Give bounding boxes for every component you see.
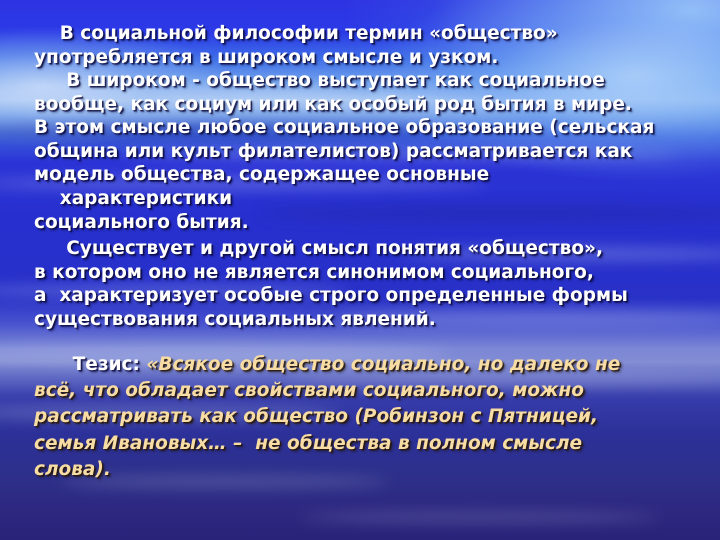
text-line: Существует и другой смысл понятия «общес… bbox=[34, 237, 710, 261]
text-line: модель общества, содержащее основные bbox=[34, 163, 710, 187]
text-line: «Всякое общество социально, но далеко не bbox=[140, 354, 620, 375]
text-line: семья Ивановых… – не общества в полном с… bbox=[34, 431, 710, 457]
paragraph-definition-intro: В социальной философии термин «общество»… bbox=[34, 22, 710, 69]
text-line: существования социальных явлений. bbox=[34, 308, 710, 332]
paragraph-broad-sense: В широком - общество выступает как социа… bbox=[34, 69, 710, 234]
text-line: в котором оно не является синонимом соци… bbox=[34, 261, 710, 285]
text-line: употребляется в широком смысле и узком. bbox=[34, 46, 710, 70]
text-line: всё, что обладает свойствами социального… bbox=[34, 378, 710, 404]
text-line: вообще, как социум или как особый род бы… bbox=[34, 93, 710, 117]
thesis-label: Тезис: bbox=[73, 354, 140, 375]
text-line: В социальной философии термин «общество» bbox=[34, 22, 710, 46]
slide-canvas: В социальной философии термин «общество»… bbox=[0, 0, 720, 540]
paragraph-narrow-sense: Существует и другой смысл понятия «общес… bbox=[34, 237, 710, 331]
text-line: а характеризует особые строго определенн… bbox=[34, 284, 710, 308]
paragraph-thesis: Тезис: «Всякое общество социально, но да… bbox=[34, 352, 710, 483]
text-line: рассматривать как общество (Робинзон с П… bbox=[34, 404, 710, 430]
thesis-indent bbox=[34, 354, 73, 375]
text-line: В широком - общество выступает как социа… bbox=[34, 69, 710, 93]
text-line: характеристики bbox=[34, 187, 710, 211]
text-line: социального бытия. bbox=[34, 211, 710, 235]
text-line: В этом смысле любое социальное образован… bbox=[34, 116, 710, 140]
thesis-first-line: Тезис: «Всякое общество социально, но да… bbox=[34, 352, 710, 378]
text-line: слова). bbox=[34, 457, 710, 483]
slide-text-content: В социальной философии термин «общество»… bbox=[0, 0, 720, 540]
text-line: община или культ филателистов) рассматри… bbox=[34, 140, 710, 164]
